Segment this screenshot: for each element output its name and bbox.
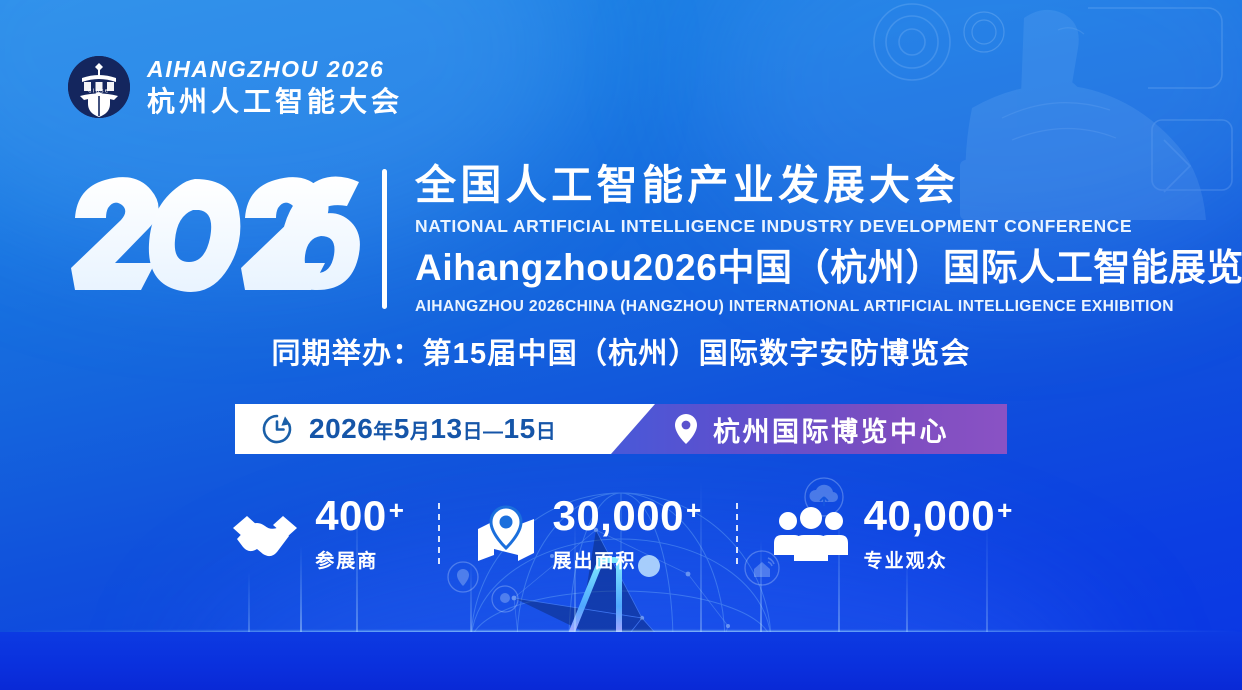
horizon-light-band <box>0 631 1242 634</box>
title-en-main: NATIONAL ARTIFICIAL INTELLIGENCE INDUSTR… <box>415 213 1242 239</box>
stat-value: 40,000 + <box>864 495 1013 537</box>
date-year-unit: 年 <box>373 415 394 444</box>
clock-icon <box>261 413 293 445</box>
stat-text: 40,000 + 专业观众 <box>864 495 1013 573</box>
stat-divider <box>438 503 440 565</box>
light-beam <box>248 572 250 632</box>
brand-logo-lockup[interactable]: cipse AIHANGZHOU 2026 杭州人工智能大会 <box>68 56 403 118</box>
venue-name: 杭州国际博览中心 <box>713 410 949 449</box>
stat-divider <box>736 503 738 565</box>
title-en-sub: AIHANGZHOU 2026CHINA (HANGZHOU) INTERNAT… <box>415 296 1242 319</box>
concurrent-event-line: 同期举办：第15届中国（杭州）国际数字安防博览会 <box>0 330 1242 372</box>
date-day-end-unit: 日 <box>536 415 557 444</box>
stat-number: 30,000 <box>552 495 683 537</box>
brand-name-en: AIHANGZHOU 2026 <box>147 56 403 83</box>
brand-name-cn: 杭州人工智能大会 <box>147 85 403 118</box>
stat-plus: + <box>389 497 405 523</box>
stat-item: 30,000 + 展出面积 <box>474 495 701 573</box>
date-dash: — <box>483 421 504 444</box>
horizon-glow <box>0 580 1242 680</box>
hud-circle-icon <box>962 10 1006 54</box>
venue-content: 杭州国际博览中心 <box>673 410 949 449</box>
stat-text: 400 + 参展商 <box>315 495 404 573</box>
brand-logo-text: AIHANGZHOU 2026 杭州人工智能大会 <box>147 56 403 118</box>
stat-value: 400 + <box>315 495 404 537</box>
location-pin-icon <box>673 413 699 445</box>
conference-banner: cipse AIHANGZHOU 2026 杭州人工智能大会 <box>0 0 1242 690</box>
year-2026-logotype <box>62 169 372 309</box>
location-dot-icon <box>490 584 520 614</box>
stat-plus: + <box>686 497 702 523</box>
date-month: 5 <box>394 413 410 445</box>
ground-plane <box>0 632 1242 690</box>
stat-label: 专业观众 <box>864 546 1013 573</box>
date-venue-bar: 杭州国际博览中心 2026 年 5 月 13 日 — 15 日 <box>235 404 1007 454</box>
stat-text: 30,000 + 展出面积 <box>552 495 701 573</box>
headline-divider <box>382 169 387 309</box>
people-group-icon <box>772 507 850 561</box>
stat-number: 400 <box>315 495 387 537</box>
svg-text:cipse: cipse <box>88 88 109 95</box>
stat-label: 展出面积 <box>552 546 701 573</box>
date-range: 2026 年 5 月 13 日 — 15 日 <box>309 413 556 445</box>
map-pin-area-icon <box>474 505 538 563</box>
date-year: 2026 <box>309 413 373 445</box>
stat-value: 30,000 + <box>552 495 701 537</box>
stat-item: 400 + 参展商 <box>229 495 404 573</box>
stat-number: 40,000 <box>864 495 995 537</box>
date-panel: 2026 年 5 月 13 日 — 15 日 <box>235 404 655 454</box>
stat-plus: + <box>997 497 1013 523</box>
title-cn-sub: Aihangzhou2026中国（杭州）国际人工智能展览会 <box>415 244 1242 292</box>
date-day-end: 15 <box>504 413 536 445</box>
date-day-start: 13 <box>430 413 462 445</box>
date-day-start-unit: 日 <box>463 415 484 444</box>
headline-titles: 全国人工智能产业发展大会 NATIONAL ARTIFICIAL INTELLI… <box>415 160 1242 319</box>
stat-label: 参展商 <box>315 546 404 573</box>
handshake-icon <box>229 506 301 562</box>
smartphone-icon <box>796 636 824 676</box>
headline-block: 全国人工智能产业发展大会 NATIONAL ARTIFICIAL INTELLI… <box>62 160 1242 319</box>
cipse-bridge-shield-emblem-icon: cipse <box>68 56 130 118</box>
stats-row: 400 + 参展商 <box>0 495 1242 573</box>
title-cn-main: 全国人工智能产业发展大会 <box>415 160 1242 210</box>
date-month-unit: 月 <box>410 415 431 444</box>
stat-item: 40,000 + 专业观众 <box>772 495 1013 573</box>
